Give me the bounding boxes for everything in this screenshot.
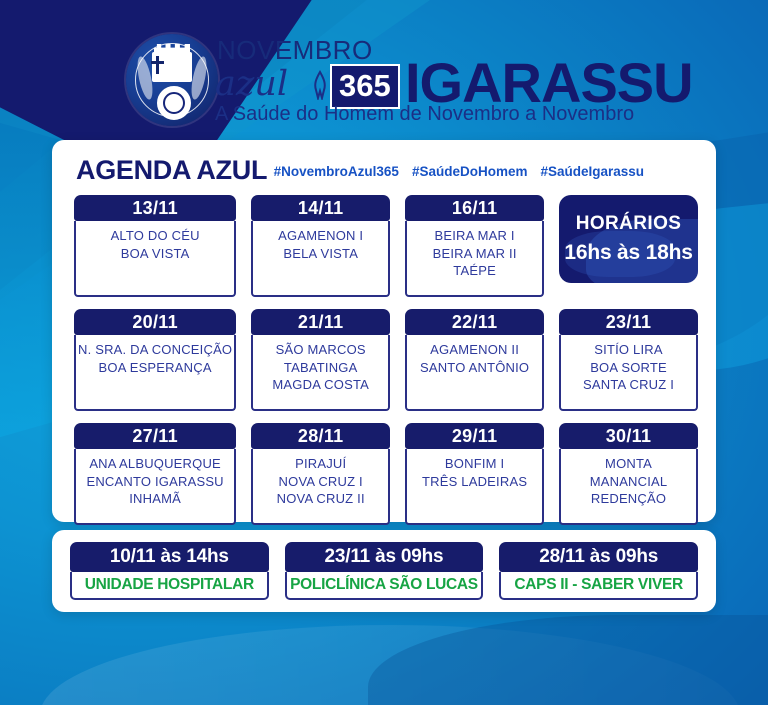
agenda-card: 21/11SÃO MARCOSTABATINGAMAGDA COSTA	[251, 309, 390, 411]
agenda-card-locations: SITÍO LIRABOA SORTESANTA CRUZ I	[559, 335, 698, 411]
agenda-card-date: 22/11	[405, 309, 544, 335]
agenda-location: TAÉPE	[453, 262, 496, 280]
facility-name: UNIDADE HOSPITALAR	[70, 572, 269, 600]
agenda-panel: AGENDA AZUL #NovembroAzul365#SaúdeDoHome…	[52, 140, 716, 522]
agenda-card-date: 21/11	[251, 309, 390, 335]
agenda-card-locations: N. SRA. DA CONCEIÇÃOBOA ESPERANÇA	[74, 335, 236, 411]
agenda-location: REDENÇÃO	[591, 490, 666, 508]
agenda-location: TRÊS LADEIRAS	[422, 473, 527, 491]
agenda-card-date: 27/11	[74, 423, 236, 449]
agenda-card: 29/11BONFIM ITRÊS LADEIRAS	[405, 423, 544, 525]
agenda-card: 30/11MONTAMANANCIALREDENÇÃO	[559, 423, 698, 525]
agenda-location: SANTA CRUZ I	[583, 376, 674, 394]
agenda-card: 16/11BEIRA MAR IBEIRA MAR IITAÉPE	[405, 195, 544, 297]
agenda-location: BELA VISTA	[283, 245, 358, 263]
agenda-location: NOVA CRUZ I	[279, 473, 363, 491]
brand-title-block: NOVEMBRO azul 365 IGARASSU A Saúde do Ho…	[205, 36, 765, 108]
agenda-location: ANA ALBUQUERQUE	[89, 455, 221, 473]
agenda-location: AGAMENON I	[278, 227, 363, 245]
agenda-card-locations: ALTO DO CÉUBOA VISTA	[74, 221, 236, 297]
agenda-location: BEIRA MAR I	[435, 227, 515, 245]
agenda-card-date: 16/11	[405, 195, 544, 221]
agenda-location: BEIRA MAR II	[433, 245, 517, 263]
agenda-location: TABATINGA	[284, 359, 358, 377]
agenda-location: BOA ESPERANÇA	[99, 359, 212, 377]
agenda-card: 28/11PIRAJUÍNOVA CRUZ INOVA CRUZ II	[251, 423, 390, 525]
agenda-location: AGAMENON II	[430, 341, 519, 359]
agenda-location: BONFIM I	[445, 455, 504, 473]
agenda-card: 23/11SITÍO LIRABOA SORTESANTA CRUZ I	[559, 309, 698, 411]
hashtag-2: #SaúdeDoHomem	[412, 164, 528, 179]
agenda-location: ALTO DO CÉU	[111, 227, 200, 245]
agenda-card-date: 28/11	[251, 423, 390, 449]
agenda-card-locations: BEIRA MAR IBEIRA MAR IITAÉPE	[405, 221, 544, 297]
agenda-card-locations: AGAMENON IISANTO ANTÔNIO	[405, 335, 544, 411]
facility-card: 23/11 às 09hsPOLICLÍNICA SÃO LUCAS	[285, 542, 484, 600]
hashtag-list: #NovembroAzul365#SaúdeDoHomem#SaúdeIgara…	[274, 156, 644, 188]
agenda-card-date: 29/11	[405, 423, 544, 449]
facility-name: CAPS II - SABER VIVER	[499, 572, 698, 600]
agenda-location: SANTO ANTÔNIO	[420, 359, 529, 377]
agenda-location: PIRAJUÍ	[295, 455, 346, 473]
agenda-card-date: 13/11	[74, 195, 236, 221]
agenda-location: NOVA CRUZ II	[277, 490, 365, 508]
facility-datetime: 28/11 às 09hs	[499, 542, 698, 572]
page-title: AGENDA AZUL	[76, 154, 267, 186]
agenda-card-locations: MONTAMANANCIALREDENÇÃO	[559, 449, 698, 525]
brand-tagline: A Saúde do Homem de Novembro a Novembro	[215, 102, 634, 126]
agenda-location: MONTA	[605, 455, 652, 473]
poster-footer: 365 SAÚDE DO HOMEM	[0, 626, 768, 705]
agenda-card: 14/11AGAMENON IBELA VISTA	[251, 195, 390, 297]
agenda-card-locations: SÃO MARCOSTABATINGAMAGDA COSTA	[251, 335, 390, 411]
brand-novembro: NOVEMBRO	[217, 36, 373, 64]
facility-card: 28/11 às 09hsCAPS II - SABER VIVER	[499, 542, 698, 600]
poster-canvas: NOVEMBRO azul 365 IGARASSU A Saúde do Ho…	[0, 0, 768, 705]
agenda-card: 22/11AGAMENON IISANTO ANTÔNIO	[405, 309, 544, 411]
facility-datetime: 23/11 às 09hs	[285, 542, 484, 572]
agenda-card-locations: PIRAJUÍNOVA CRUZ INOVA CRUZ II	[251, 449, 390, 525]
horarios-card: HORÁRIOS16hs às 18hs	[559, 195, 698, 283]
facility-card: 10/11 às 14hsUNIDADE HOSPITALAR	[70, 542, 269, 600]
agenda-location: N. SRA. DA CONCEIÇÃO	[78, 341, 232, 359]
hashtag-3: #SaúdeIgarassu	[540, 164, 644, 179]
agenda-card-locations: BONFIM ITRÊS LADEIRAS	[405, 449, 544, 525]
hashtag-1: #NovembroAzul365	[274, 164, 399, 179]
agenda-card: 13/11ALTO DO CÉUBOA VISTA	[74, 195, 236, 297]
horarios-value: 16hs às 18hs	[564, 240, 692, 266]
agenda-card: 27/11ANA ALBUQUERQUEENCANTO IGARASSUINHA…	[74, 423, 236, 525]
agenda-location: SÃO MARCOS	[276, 341, 366, 359]
agenda-location: ENCANTO IGARASSU	[86, 473, 223, 491]
facilities-bar: 10/11 às 14hsUNIDADE HOSPITALAR23/11 às …	[52, 530, 716, 612]
agenda-location: SITÍO LIRA	[594, 341, 662, 359]
agenda-card-date: 30/11	[559, 423, 698, 449]
blue-ribbon-icon	[313, 70, 327, 100]
agenda-card-date: 14/11	[251, 195, 390, 221]
agenda-location: BOA SORTE	[590, 359, 667, 377]
agenda-card-locations: ANA ALBUQUERQUEENCANTO IGARASSUINHAMÃ	[74, 449, 236, 525]
poster-header: NOVEMBRO azul 365 IGARASSU A Saúde do Ho…	[0, 0, 768, 140]
agenda-card-date: 23/11	[559, 309, 698, 335]
facilities-grid: 10/11 às 14hsUNIDADE HOSPITALAR23/11 às …	[70, 542, 698, 600]
agenda-card-locations: AGAMENON IBELA VISTA	[251, 221, 390, 297]
agenda-location: MANANCIAL	[590, 473, 668, 491]
agenda-card-date: 20/11	[74, 309, 236, 335]
agenda-location: BOA VISTA	[121, 245, 190, 263]
agenda-location: INHAMÃ	[129, 490, 181, 508]
agenda-panel-header: AGENDA AZUL #NovembroAzul365#SaúdeDoHome…	[76, 154, 698, 188]
brand-azul: azul	[215, 62, 288, 106]
horarios-label: HORÁRIOS	[576, 212, 682, 236]
agenda-card: 20/11N. SRA. DA CONCEIÇÃOBOA ESPERANÇA	[74, 309, 236, 411]
facility-name: POLICLÍNICA SÃO LUCAS	[285, 572, 484, 600]
agenda-card-grid: 13/11ALTO DO CÉUBOA VISTA14/11AGAMENON I…	[74, 195, 698, 525]
agenda-location: MAGDA COSTA	[272, 376, 369, 394]
facility-datetime: 10/11 às 14hs	[70, 542, 269, 572]
